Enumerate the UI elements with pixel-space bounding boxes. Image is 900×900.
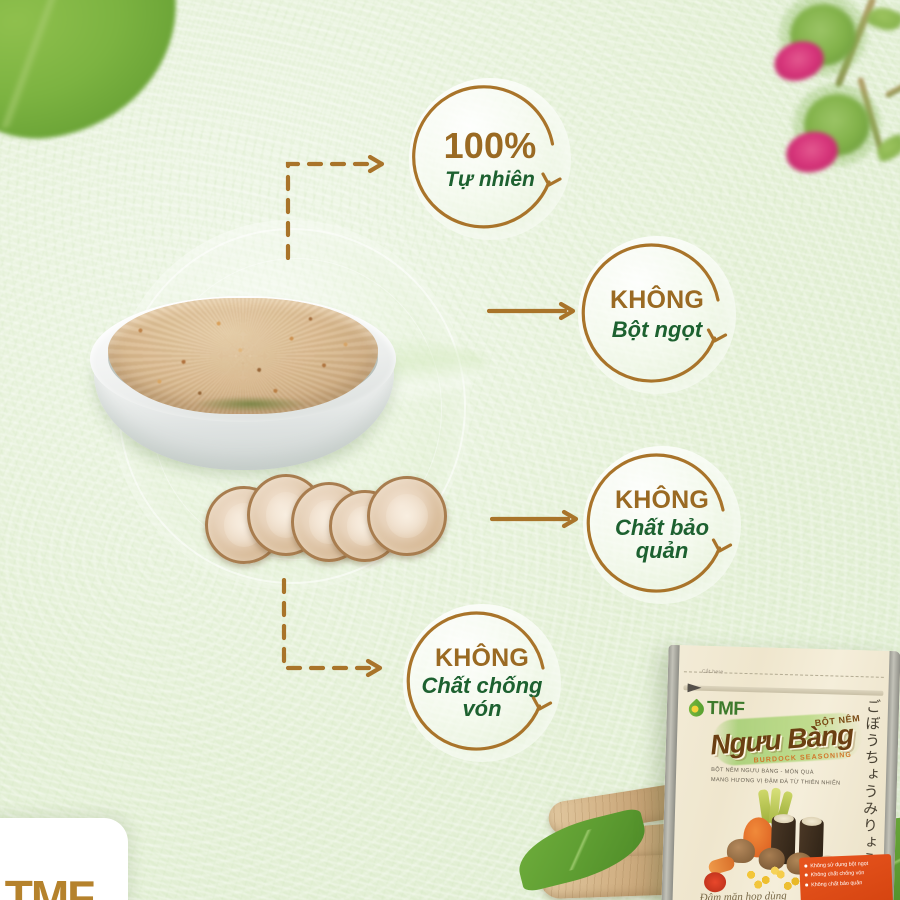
powder-herb-flecks <box>194 396 307 412</box>
feature-subtitle-no-preservative-line1: Chất bảo <box>615 517 709 539</box>
feature-subtitle-no-anticaking-line1: Chất chống <box>422 675 543 697</box>
feature-badge-no-preservative[interactable]: KHÔNG Chất bảo quản <box>583 446 741 604</box>
package-logo: TMF <box>689 697 745 721</box>
package-zipper <box>683 685 883 696</box>
bullet-icon <box>805 874 808 877</box>
feature-badge-no-msg[interactable]: KHÔNG Bột ngọt <box>578 236 736 394</box>
feature-title-no-anticaking: KHÔNG <box>435 646 529 671</box>
package-claim-item: Không chất bảo quản <box>805 879 887 890</box>
feature-badge-natural[interactable]: 100% Tự nhiên <box>409 78 571 240</box>
poster-canvas: 100% Tự nhiên KHÔNG Bột ngọt KHÔNG Chất … <box>0 0 900 900</box>
package-script-text: Đậm mặn họp dùng <box>700 890 787 900</box>
feature-subtitle-natural: Tự nhiên <box>445 169 535 190</box>
feature-title-natural: 100% <box>444 128 537 164</box>
feature-subtitle-no-msg: Bột ngọt <box>612 319 702 341</box>
feature-subtitle-no-anticaking-line2: vón <box>462 698 501 720</box>
package-claims-label: Không sử dụng bột ngọt Không chất chống … <box>799 854 893 900</box>
burdock-flower-icon-top-right <box>756 0 900 200</box>
corner-brand-text: TMF <box>5 870 94 900</box>
leaf-drop-logo-icon <box>686 698 707 719</box>
bullet-icon <box>805 883 808 886</box>
package-cut-here-label: Cắt here <box>702 669 724 676</box>
corner-brand-card: TMF <box>0 818 128 900</box>
package-logo-text: TMF <box>707 698 745 721</box>
package-japanese-text: ごぼうちょうみりょう <box>851 698 882 869</box>
badge-ring-arc-icon <box>578 236 736 394</box>
package-claim-text: Không chất chống vón <box>811 870 865 880</box>
feature-title-no-preservative: KHÔNG <box>615 488 709 513</box>
feature-subtitle-no-preservative-line2: quản <box>636 540 689 562</box>
feature-title-no-msg: KHÔNG <box>610 288 704 313</box>
seasoning-bowl <box>88 292 400 477</box>
burdock-slices <box>205 470 445 565</box>
package-tagline: BỘT NÊM NGƯU BÀNG - MÓN QUÀ MANG HƯƠNG V… <box>711 766 851 789</box>
bullet-icon <box>804 864 807 867</box>
feature-badge-no-anticaking[interactable]: KHÔNG Chất chống vón <box>403 604 561 762</box>
package-claim-text: Không chất bảo quản <box>811 880 863 890</box>
product-package[interactable]: Cắt here TMF BỘT NÊM Ngưu Bàng BURDOCK S… <box>661 645 900 900</box>
seasoning-powder <box>108 298 378 414</box>
